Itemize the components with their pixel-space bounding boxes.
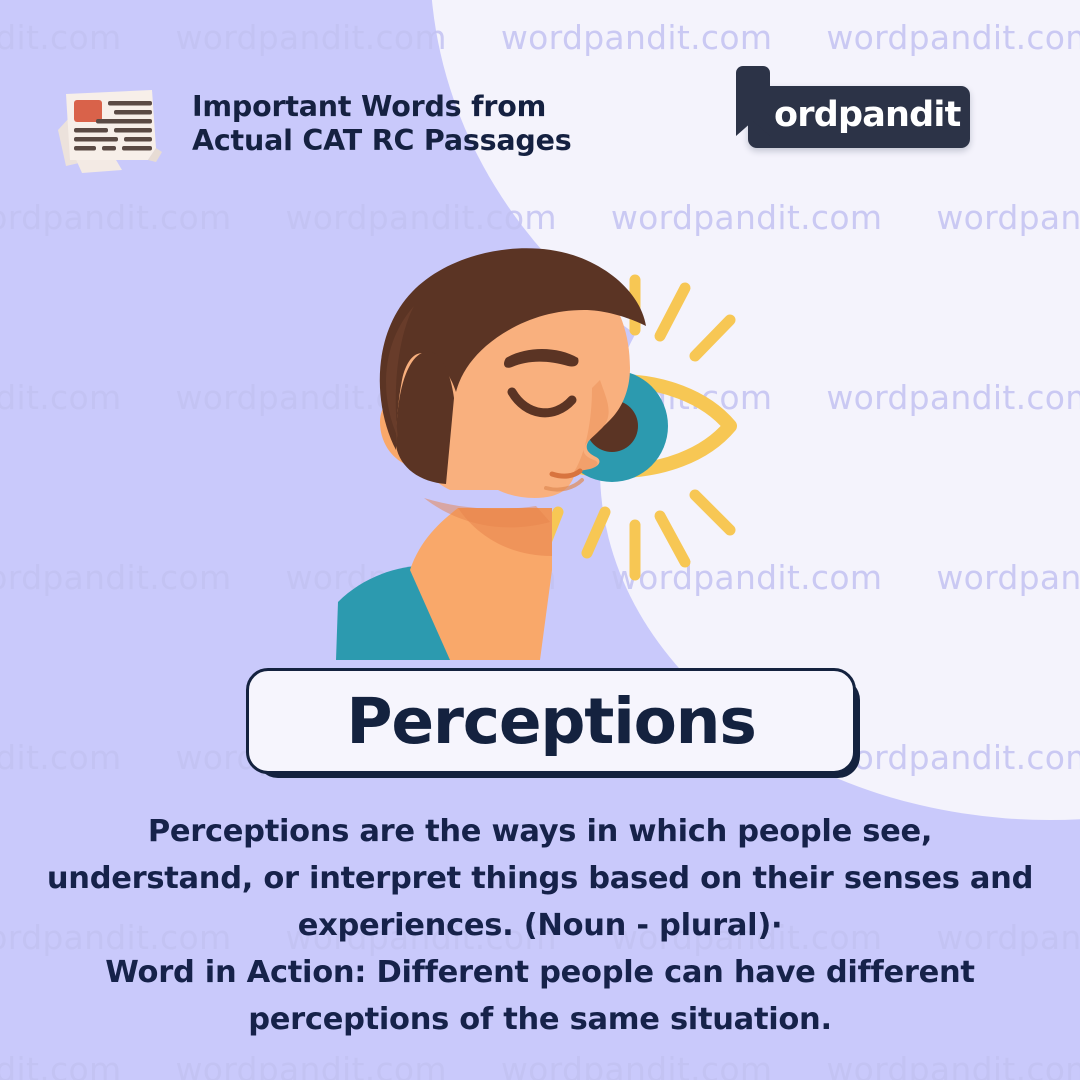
watermark-text: wordpandit.com xyxy=(826,1050,1080,1080)
definition-line-1: Perceptions are the ways in which people… xyxy=(30,808,1050,855)
watermark-text: wordpandit.com xyxy=(826,378,1080,417)
page-title-line2: Actual CAT RC Passages xyxy=(192,124,572,158)
watermark-text: wordpandit.com xyxy=(285,198,556,237)
poster-canvas: wordpandit.comwordpandit.comwordpandit.c… xyxy=(0,0,1080,1080)
watermark-text: wordpandit.com xyxy=(0,198,231,237)
wordpandit-logo[interactable]: ordpandit xyxy=(748,86,970,148)
watermark-text: wordpandit.com xyxy=(0,378,121,417)
page-title-line1: Important Words from xyxy=(192,90,572,124)
watermark-row: wordpandit.comwordpandit.comwordpandit.c… xyxy=(0,1050,1080,1080)
watermark-text: wordpandit.com xyxy=(936,558,1080,597)
header: Important Words from Actual CAT RC Passa… xyxy=(0,0,1080,190)
word-card: Perceptions xyxy=(246,668,856,774)
word-in-action-line-2: perceptions of the same situation. xyxy=(30,996,1050,1043)
definition-line-3: experiences. (Noun - plural)· xyxy=(30,902,1050,949)
word-title: Perceptions xyxy=(346,685,755,758)
definition-line-2: understand, or interpret things based on… xyxy=(30,855,1050,902)
watermark-text: wordpandit.com xyxy=(936,198,1080,237)
watermark-text: wordpandit.com xyxy=(501,1050,772,1080)
watermark-text: wordpandit.com xyxy=(175,1050,446,1080)
watermark-text: wordpandit.com xyxy=(826,738,1080,777)
newspaper-icon xyxy=(52,74,176,174)
definition-block: Perceptions are the ways in which people… xyxy=(30,808,1050,1043)
watermark-text: wordpandit.com xyxy=(0,738,121,777)
watermark-text: wordpandit.com xyxy=(611,198,882,237)
logo-text: ordpandit xyxy=(774,95,961,135)
illustration-man-perception xyxy=(300,240,780,660)
word-in-action-line-1: Word in Action: Different people can hav… xyxy=(30,949,1050,996)
watermark-text: wordpandit.com xyxy=(0,1050,121,1080)
bookmark-w-icon xyxy=(736,66,770,122)
page-title: Important Words from Actual CAT RC Passa… xyxy=(192,90,572,157)
watermark-text: wordpandit.com xyxy=(0,558,231,597)
watermark-row: wordpandit.comwordpandit.comwordpandit.c… xyxy=(0,198,1080,237)
